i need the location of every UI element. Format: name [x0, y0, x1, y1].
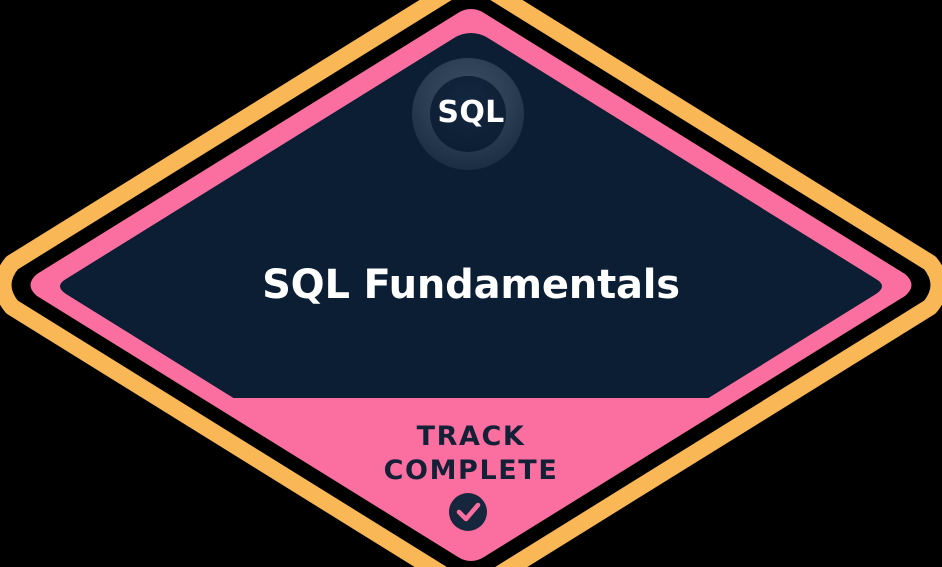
check-badge-circle [449, 493, 487, 531]
abbrev-ring-inner [430, 76, 506, 152]
badge-artwork [0, 0, 942, 567]
track-badge: SQL SQL Fundamentals TRACK COMPLETE [0, 0, 942, 567]
